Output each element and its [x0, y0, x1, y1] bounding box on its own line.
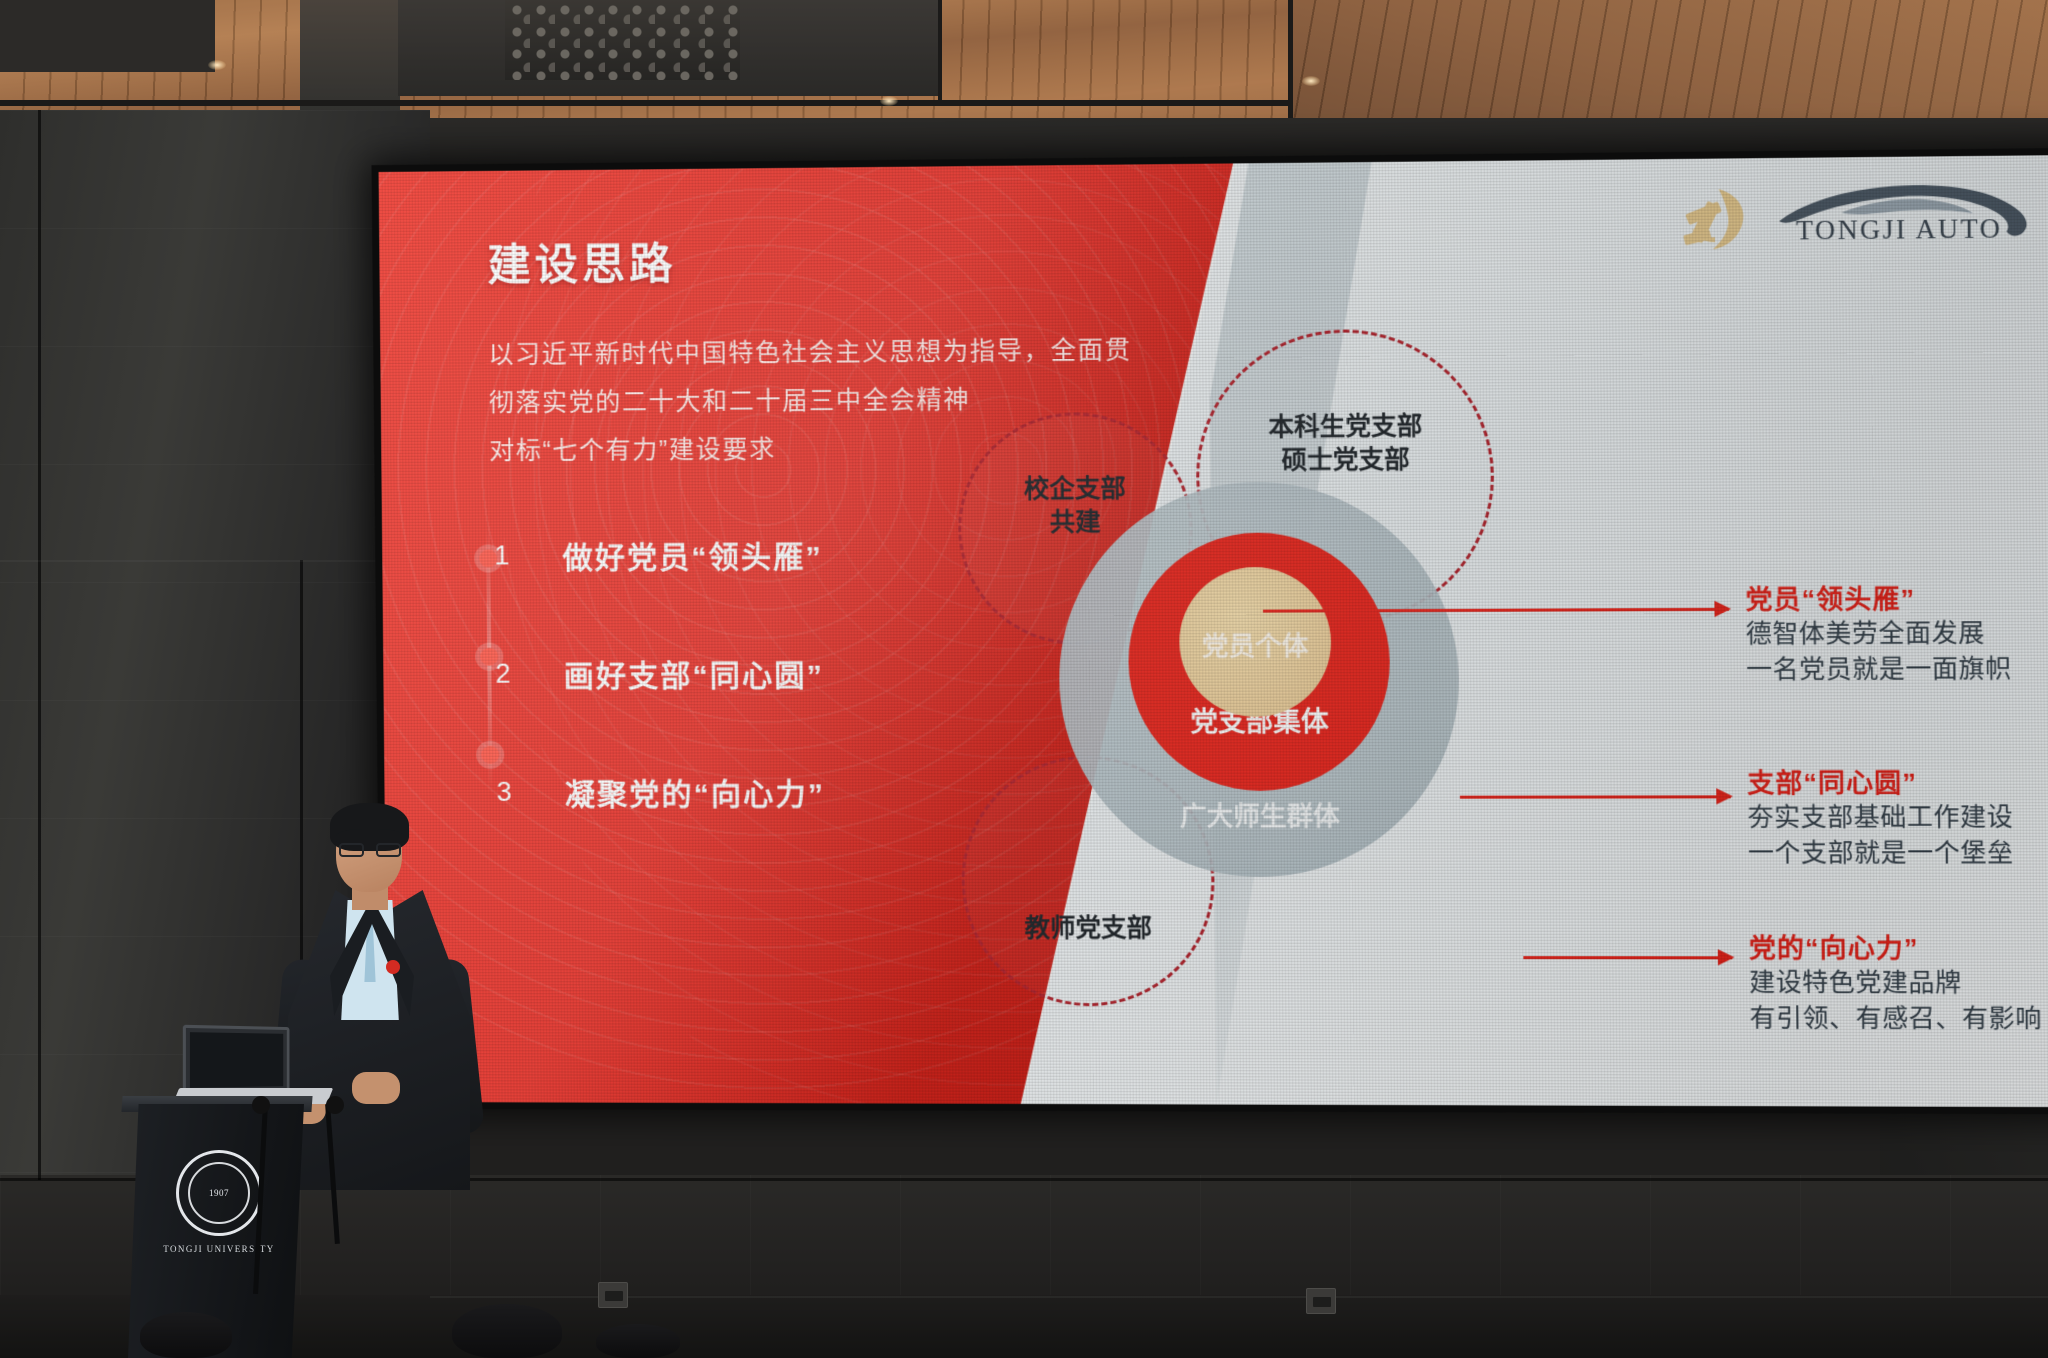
dashed-label-teacher-branch: 教师党支部 [972, 912, 1205, 945]
hex-vent-grille [505, 0, 740, 80]
floor [0, 1295, 2048, 1358]
slide-title: 建设思路 [487, 229, 677, 293]
ring-outer-label: 广大师生群体 [1111, 796, 1408, 834]
wall-outlet [598, 1282, 628, 1308]
dashed-label-line-1: 教师党支部 [972, 912, 1205, 945]
annotation-line-2: 有引领、有感召、有影响 [1749, 1001, 2042, 1037]
list-item-text: 画好支部“同心圆” [563, 651, 824, 696]
leader-arrow-1 [1263, 608, 1729, 613]
ceiling-seam [0, 100, 1290, 106]
ceiling-seam [938, 0, 942, 100]
annotation-head: 支部“同心圆” [1747, 762, 2013, 800]
leader-arrow-3 [1523, 956, 1732, 959]
conference-room-photo: TONGJI AUTO 建设思路 以习近平新时代中国特色社会主义思想为指导，全面… [0, 0, 2048, 1358]
annotation-line-1: 建设特色党建品牌 [1749, 966, 2042, 1002]
venn-diagram: 校企支部 共建 本科生党支部 硕士党支部 教师党支部 广大师生群体 党支部集体 … [944, 314, 2048, 1102]
presenter-hand-right [352, 1072, 400, 1104]
list-item-index: 3 [492, 776, 565, 807]
laptop-screen [183, 1025, 290, 1095]
logo-wordmark: TONGJI AUTO [1796, 213, 2003, 247]
wall-panel-line [0, 560, 430, 562]
emblem-year: 1907 [188, 1162, 250, 1224]
presenter-lapel-badge [386, 960, 400, 974]
annotation-line-2: 一名党员就是一面旗帜 [1746, 652, 2012, 689]
audience-silhouette [452, 1304, 562, 1358]
annotation-party-member: 党员“领头雁” 德智体美劳全面发展 一名党员就是一面旗帜 [1745, 578, 2012, 688]
annotation-line-1: 德智体美劳全面发展 [1746, 616, 2012, 653]
list-item-index: 1 [490, 540, 563, 571]
microphone-head [326, 1096, 344, 1114]
list-item-text: 凝聚党的“向心力” [565, 769, 826, 814]
audience-silhouette [596, 1324, 680, 1358]
annotation-head: 党的“向心力” [1749, 928, 2042, 966]
dashed-label-line-1: 本科生党支部 [1206, 410, 1486, 445]
wall-seam [38, 110, 41, 1180]
dashed-label-line-2: 硕士党支部 [1206, 443, 1486, 478]
annotation-line-2: 一个支部就是一个堡垒 [1748, 836, 2014, 872]
dashed-label-student-branch: 本科生党支部 硕士党支部 [1206, 410, 1486, 479]
led-presentation-screen: TONGJI AUTO 建设思路 以习近平新时代中国特色社会主义思想为指导，全面… [379, 155, 2048, 1107]
annotation-head: 党员“领头雁” [1745, 578, 2011, 617]
list-item-text: 做好党员“领头雁” [562, 532, 823, 577]
audience-silhouette [140, 1312, 232, 1358]
annotation-branch-circle: 支部“同心圆” 夯实支部基础工作建设 一个支部就是一个堡垒 [1747, 762, 2014, 872]
ring-inner-label: 党员个体 [1179, 626, 1331, 664]
annotation-line-1: 夯实支部基础工作建设 [1747, 800, 2013, 836]
ceiling-spotlight [1302, 76, 1320, 86]
wall-outlet [1306, 1288, 1336, 1314]
wall-panel-line [430, 1296, 2048, 1298]
microphone-head [252, 1096, 270, 1114]
annotation-cohesion: 党的“向心力” 建设特色党建品牌 有引领、有感召、有影响 [1749, 928, 2042, 1038]
slide-logo: TONGJI AUTO [1677, 180, 2034, 259]
list-item-index: 2 [491, 658, 564, 689]
party-hammer-sickle-icon [1677, 185, 1759, 257]
leader-arrow-2 [1460, 795, 1731, 798]
ceiling-dark-panel-left [0, 0, 215, 72]
tongji-auto-logo: TONGJI AUTO [1773, 180, 2034, 258]
glasses-icon [339, 843, 401, 858]
university-emblem-icon: 1907 [176, 1150, 262, 1236]
ceiling-spotlight [880, 96, 898, 106]
ceiling-spotlight [208, 60, 226, 70]
dashed-label-line-1: 校企支部 [980, 472, 1170, 506]
